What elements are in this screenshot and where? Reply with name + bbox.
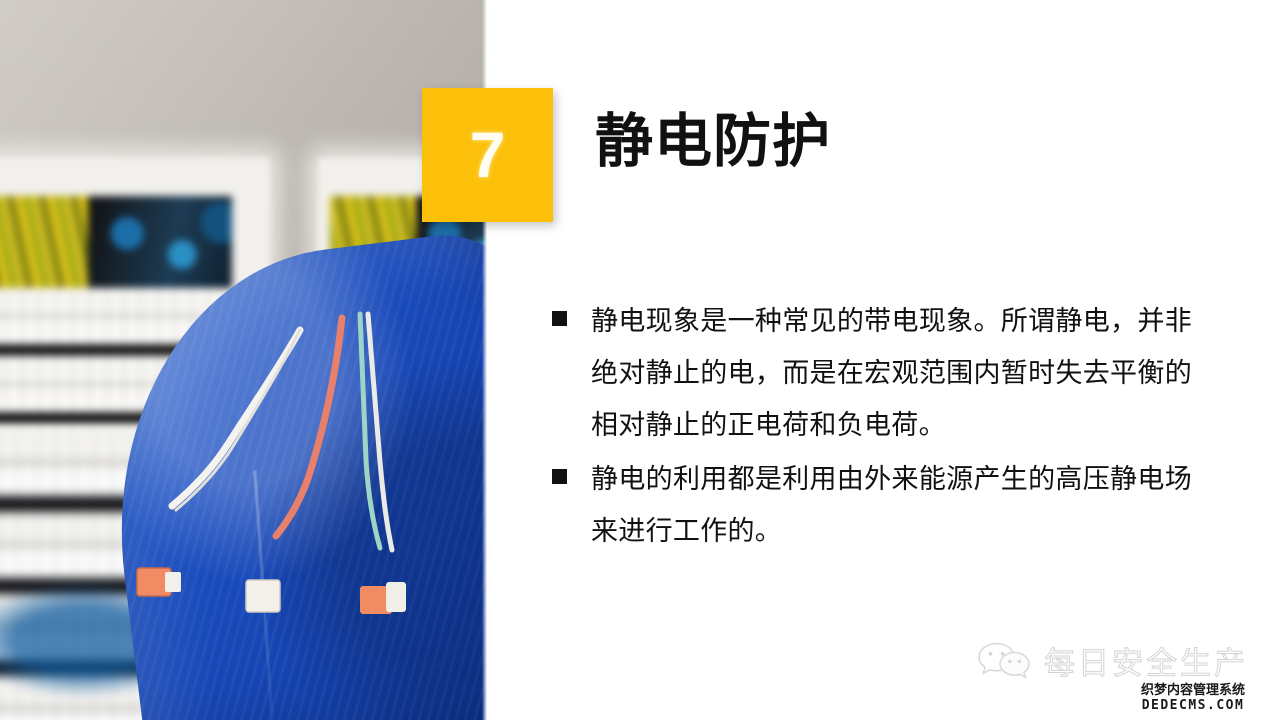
wechat-icon	[975, 640, 1033, 682]
wechat-account-name: 每日安全生产	[1044, 638, 1248, 683]
bullet-text: 静电现象是一种常见的带电现象。所谓静电，并非绝对静止的电，而是在宏观范围内暂时失…	[591, 296, 1192, 452]
section-number: 7	[422, 123, 553, 187]
page-title: 静电防护	[595, 109, 831, 174]
hero-photo	[0, 0, 487, 720]
bullet-list: 静电现象是一种常见的带电现象。所谓静电，并非绝对静止的电，而是在宏观范围内暂时失…	[552, 296, 1192, 560]
slide-root: 7 静电防护 静电现象是一种常见的带电现象。所谓静电，并非绝对静止的电，而是在宏…	[0, 0, 1280, 720]
list-item: 静电现象是一种常见的带电现象。所谓静电，并非绝对静止的电，而是在宏观范围内暂时失…	[552, 296, 1192, 452]
wechat-watermark: 每日安全生产	[975, 638, 1248, 683]
square-bullet-icon	[552, 469, 567, 484]
square-bullet-icon	[552, 311, 567, 326]
photo-test-leads	[0, 0, 487, 720]
section-number-badge: 7	[422, 88, 553, 222]
list-item: 静电的利用都是利用由外来能源产生的高压静电场来进行工作的。	[552, 454, 1192, 558]
dedecms-cn-text: 织梦内容管理系统	[1141, 684, 1245, 697]
bullet-text: 静电的利用都是利用由外来能源产生的高压静电场来进行工作的。	[591, 454, 1192, 558]
dedecms-watermark: 织梦内容管理系统 DEDECMS.COM	[1141, 684, 1245, 712]
dedecms-en-text: DEDECMS.COM	[1141, 699, 1245, 712]
